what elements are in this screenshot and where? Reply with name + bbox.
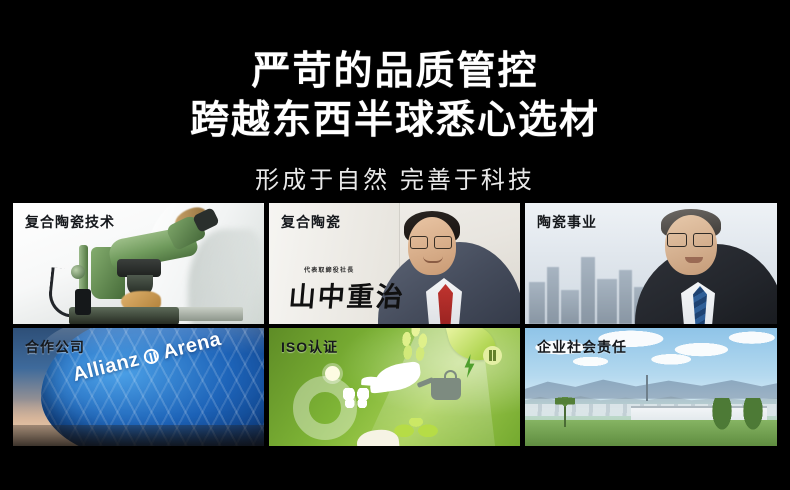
feature-tile-grid: 复合陶瓷技术 代表取締役社長 山中重治 复合陶瓷: [13, 203, 777, 448]
hero-subtitle: 形成于自然 完善于科技: [0, 160, 790, 195]
power-button-icon: [483, 346, 502, 365]
tile-label: 复合陶瓷技术: [25, 212, 115, 232]
tile-label: 复合陶瓷: [281, 212, 341, 232]
microscope-foot: [75, 289, 91, 315]
watering-can-icon: [431, 378, 461, 400]
sun-icon: [325, 366, 340, 381]
tile-label: 企业社会责任: [537, 337, 627, 357]
tree: [742, 398, 764, 432]
tile-composite-ceramic-technology[interactable]: 复合陶瓷技术: [13, 203, 264, 324]
eco-ring-shape: [293, 376, 357, 440]
tile-partner-company[interactable]: Allianz Arena 合作公司: [13, 328, 264, 446]
tile-composite-ceramic[interactable]: 代表取締役社長 山中重治 复合陶瓷: [269, 203, 520, 324]
eyeglasses-icon: [410, 236, 452, 247]
tile-iso-certification[interactable]: ISO认证: [269, 328, 520, 446]
tree: [711, 398, 733, 432]
arena-foreground: [13, 425, 264, 446]
tile-label: ISO认证: [281, 337, 338, 357]
hero-text-block: 严苛的品质管控 跨越东西半球悉心选材 形成于自然 完善于科技: [0, 0, 790, 195]
tile-corporate-social-responsibility[interactable]: 企业社会责任: [525, 328, 777, 446]
promo-banner: 严苛的品质管控 跨越东西半球悉心选材 形成于自然 完善于科技 复合陶瓷技术: [0, 0, 790, 490]
tile-ceramic-business[interactable]: 陶瓷事业: [525, 203, 777, 324]
headline-line-1: 严苛的品质管控: [0, 50, 790, 94]
palm-tree: [555, 397, 575, 427]
microscope-focus-knob: [71, 265, 85, 279]
signature-title: 代表取締役社長: [304, 265, 354, 274]
signature-name: 山中重治: [287, 275, 406, 314]
smokestack: [646, 375, 649, 401]
sprout-icon: [393, 418, 439, 446]
tile-label: 陶瓷事业: [537, 212, 597, 232]
butterfly-icon: [343, 388, 369, 408]
eyeglasses-icon: [667, 233, 713, 245]
allianz-emblem-icon: [142, 347, 160, 365]
headline-line-2: 跨越东西半球悉心选材: [0, 99, 790, 143]
tile-label: 合作公司: [25, 337, 85, 357]
